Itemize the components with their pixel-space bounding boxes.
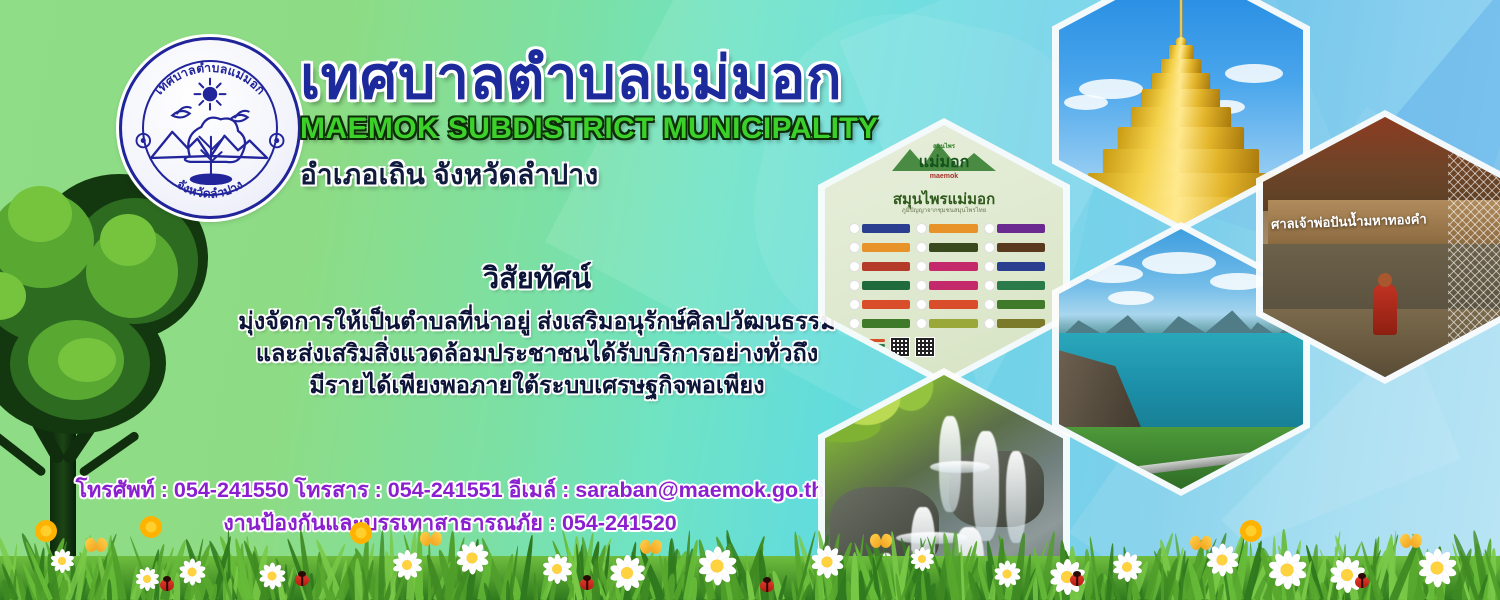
mountain-icon — [151, 132, 267, 158]
cloud — [1142, 252, 1216, 274]
daisy-center — [1341, 569, 1353, 581]
daisy-center — [918, 555, 926, 563]
daisy-flower — [1110, 550, 1144, 584]
cloud — [1083, 265, 1143, 283]
daisy-flower — [48, 547, 75, 574]
ladybug — [580, 578, 594, 590]
ladybug — [1070, 574, 1084, 586]
idol-head — [1378, 273, 1392, 287]
butterfly — [1400, 534, 1422, 550]
daisy-center — [711, 560, 724, 573]
cloud — [1108, 291, 1154, 305]
contact-line-phone-fax-email[interactable]: โทรศัพท์ : 054-241550 โทรสาร : 054-24155… — [60, 474, 840, 507]
poster-product-item — [914, 278, 977, 293]
poster-product-column — [847, 221, 910, 331]
vision-statement: วิสัยทัศน์ มุ่งจัดการให้เป็นตำบลที่น่าอย… — [232, 255, 842, 402]
ladybug — [160, 579, 174, 591]
tree-canopy — [58, 338, 116, 382]
vision-line: และส่งเสริมสิ่งแวดล้อมประชาชนได้รับบริกา… — [232, 338, 842, 370]
poster-product-item — [914, 221, 977, 236]
daisy-flower — [1415, 546, 1459, 590]
page-title-thai: เทศบาลตำบลแม่มอก — [300, 48, 940, 109]
butterfly — [85, 538, 107, 554]
yellow-flower — [1240, 520, 1262, 542]
butterfly — [1190, 536, 1212, 552]
grass-border-decoration: {} — [0, 514, 1500, 600]
daisy-center — [268, 572, 277, 581]
hexagon-image-herbal-poster: สมุนไพร แม่มอก maemok สมุนไพรแม่มอก ภูมิ… — [825, 125, 1063, 379]
daisy-center — [822, 557, 833, 568]
poster-product-item — [914, 297, 977, 312]
logo-main-text: แม่มอก — [919, 154, 970, 171]
poster-contact-lines — [851, 339, 885, 357]
daisy-flower — [453, 539, 490, 576]
daisy-center — [1003, 570, 1012, 579]
daisy-flower — [1265, 548, 1309, 592]
poster-product-item — [914, 259, 977, 274]
ladybug — [760, 580, 774, 592]
municipality-banner: เทศบาลตำบลแม่มอก จังหวัดลำปาง — [0, 0, 1500, 600]
butterfly-wing — [429, 531, 444, 548]
butterfly-wing — [879, 533, 894, 550]
municipality-seal-logo[interactable]: เทศบาลตำบลแม่มอก จังหวัดลำปาง — [119, 37, 301, 219]
butterfly — [870, 534, 892, 550]
pagoda-base — [1088, 173, 1274, 199]
page-title-english: MAEMOK SUBDISTRICT MUNICIPALITY — [300, 112, 940, 146]
ladybug — [1355, 576, 1369, 588]
butterfly-wing — [94, 537, 109, 554]
sun-icon — [195, 79, 226, 110]
yellow-flower — [140, 516, 162, 538]
rosette-icon — [274, 138, 279, 143]
poster-product-column — [914, 221, 977, 331]
daisy-flower — [390, 548, 424, 582]
tree-canopy — [8, 186, 72, 242]
yellow-flower — [35, 520, 57, 542]
grass-blade — [505, 580, 509, 600]
daisy-flower — [133, 565, 160, 592]
maemok-herbal-logo: สมุนไพร แม่มอก maemok — [884, 137, 1004, 183]
poster-product-item — [914, 240, 977, 255]
daisy-flower — [808, 543, 845, 580]
butterfly — [420, 532, 442, 548]
poster-product-item — [982, 278, 1045, 293]
vision-heading: วิสัยทัศน์ — [232, 255, 842, 301]
vision-line: มุ่งจัดการให้เป็นตำบลที่น่าอยู่ ส่งเสริม… — [232, 306, 842, 338]
poster-product-item — [982, 297, 1045, 312]
daisy-flower — [540, 552, 574, 586]
seal-artwork: เทศบาลตำบลแม่มอก จังหวัดลำปาง — [122, 40, 298, 216]
poster-footer — [851, 337, 935, 357]
daisy-center — [1281, 564, 1294, 577]
poster-product-item — [982, 240, 1045, 255]
daisy-center — [1217, 555, 1228, 566]
butterfly — [640, 540, 662, 556]
logo-sub-text: maemok — [930, 173, 959, 180]
butterfly-wing — [1199, 535, 1214, 552]
bird-icon — [172, 107, 190, 117]
poster-product-item — [847, 240, 910, 255]
daisy-center — [402, 560, 412, 570]
daisy-center — [621, 567, 633, 579]
daisy-flower — [177, 557, 208, 588]
yellow-flower — [350, 522, 372, 544]
poster-product-item — [982, 221, 1045, 236]
daisy-center — [1122, 562, 1132, 572]
ladybug — [295, 574, 309, 586]
daisy-center — [1431, 562, 1444, 575]
poster-product-item — [847, 221, 910, 236]
shrine-wire-mesh — [1448, 133, 1500, 351]
poster-product-item — [982, 259, 1045, 274]
daisy-center — [58, 557, 66, 565]
hexagon-image-shrine: ศาลเจ้าพ่อปันน้ำมหาทองคำ — [1263, 117, 1500, 377]
butterfly-wing — [649, 539, 664, 556]
poster-product-item — [847, 297, 910, 312]
pagoda-base — [1074, 197, 1288, 225]
vegetation — [1059, 427, 1303, 489]
daisy-flower — [257, 561, 288, 592]
tree-canopy — [100, 214, 156, 266]
poster-product-item — [847, 259, 910, 274]
daisy-center — [188, 568, 197, 577]
daisy-center — [552, 564, 562, 574]
poster-subtitle: ภูมิปัญญาจากชุมชนสมุนไพรไทย — [825, 205, 1063, 215]
cloud — [1225, 64, 1283, 83]
butterfly-wing — [1409, 533, 1424, 550]
rosette-icon — [141, 138, 146, 143]
pagoda-overlay-sub1: บ้านกุ่ — [1275, 0, 1295, 4]
logo-top-text: สมุนไพร — [933, 142, 956, 150]
daisy-center — [467, 553, 478, 564]
vision-line: มีรายได้เพียงพอภายใต้ระบบเศรษฐกิจพอเพียง — [232, 370, 842, 402]
pagoda-tier — [1142, 89, 1220, 109]
pagoda-overlay-sub2: อำเภ — [1280, 3, 1295, 14]
cloud — [1064, 95, 1108, 110]
poster-product-column — [982, 221, 1045, 331]
daisy-flower — [908, 545, 935, 572]
pagoda-tier — [1118, 127, 1244, 151]
daisy-center — [143, 575, 151, 583]
poster-product-grid — [847, 221, 1045, 331]
pagoda-spire — [1180, 0, 1183, 41]
pagoda-tier — [1131, 107, 1231, 129]
poster-product-item — [914, 316, 977, 331]
daisy-flower — [992, 559, 1023, 590]
poster-product-item — [982, 316, 1045, 331]
qr-code-icon — [915, 337, 935, 357]
poster-product-item — [847, 316, 910, 331]
qr-code-icon — [890, 337, 910, 357]
shrine-idol — [1373, 283, 1397, 335]
daisy-flower — [695, 544, 739, 588]
daisy-flower — [607, 553, 648, 594]
pagoda-tier — [1103, 149, 1259, 175]
poster-product-item — [847, 278, 910, 293]
